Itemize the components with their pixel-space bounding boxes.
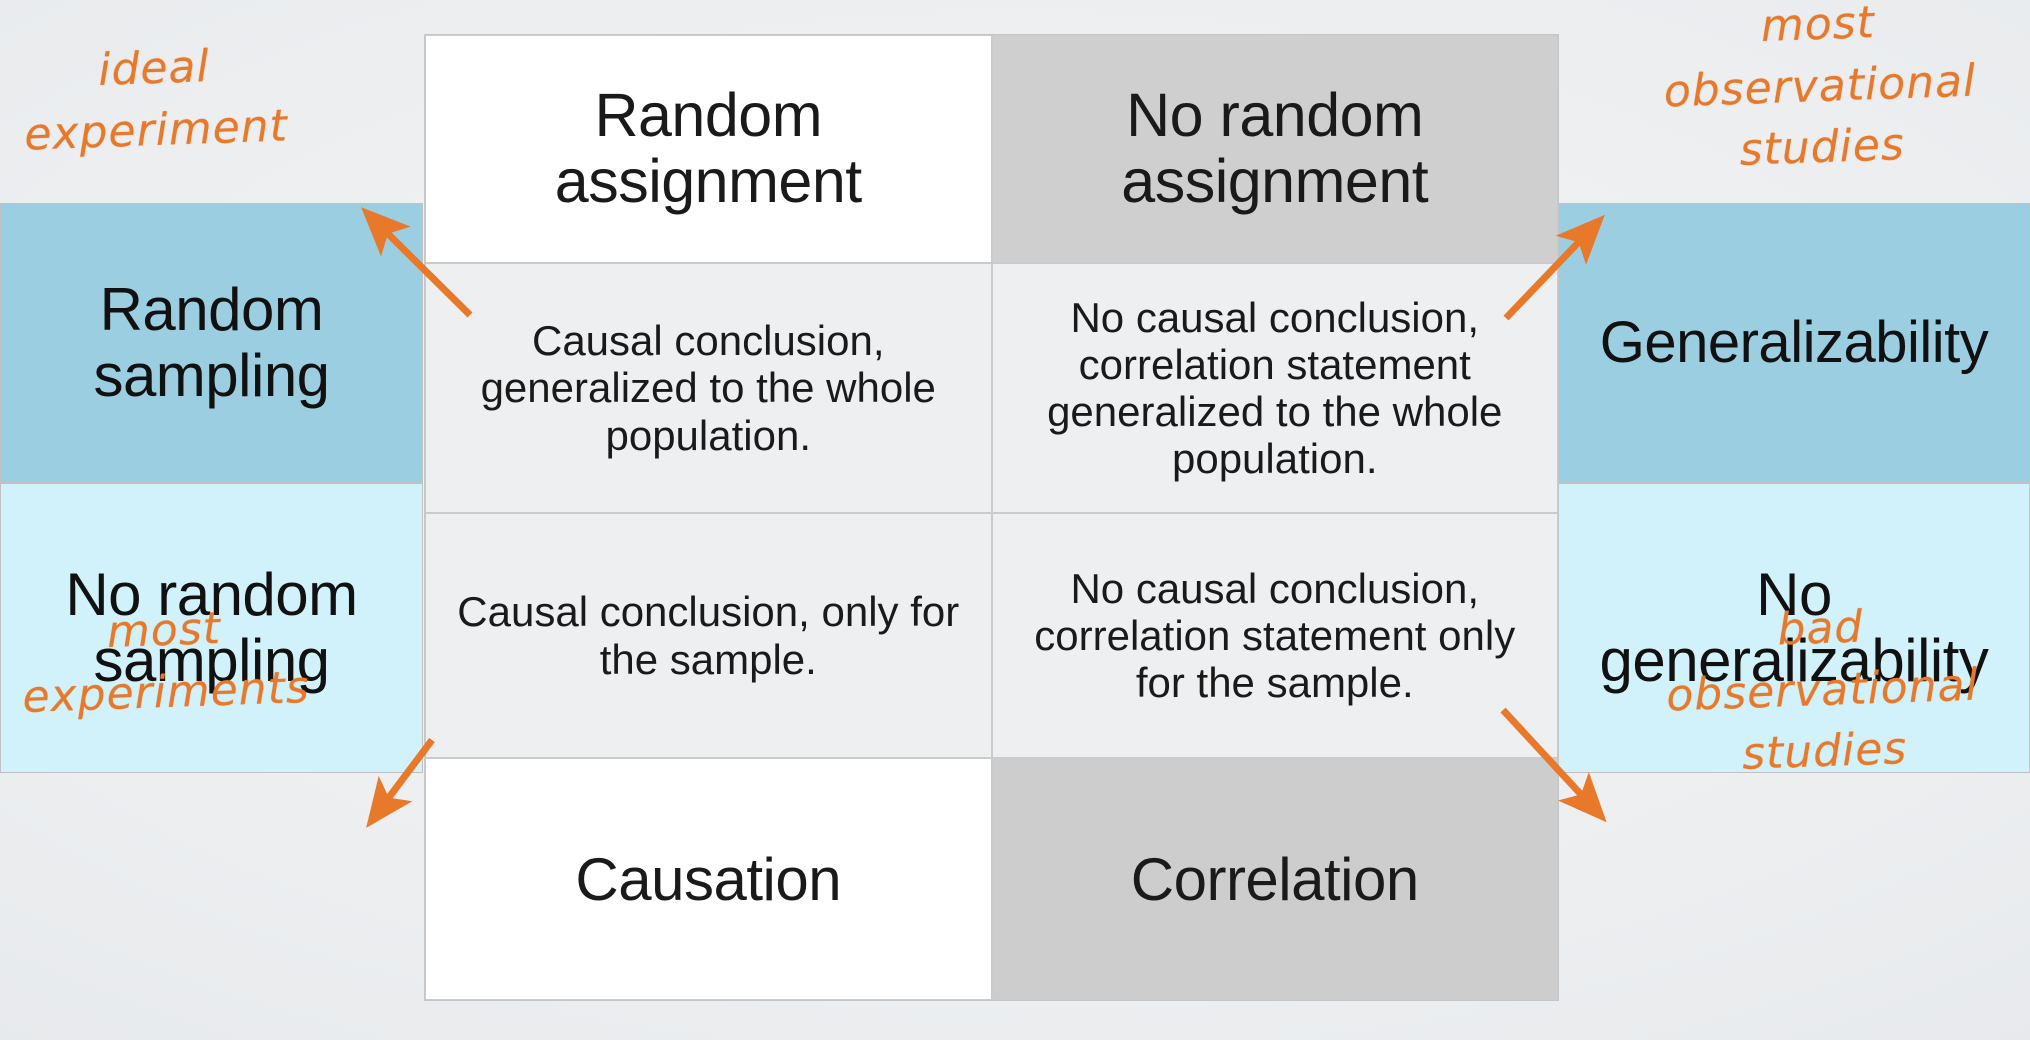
row-label-random-sampling: Random sampling	[0, 203, 423, 483]
matrix-table: Random assignment No random assignment C…	[425, 35, 1558, 1000]
annotation-most-experiments: most experiments	[8, 595, 322, 729]
diagram-slide: Random sampling No random sampling Gener…	[0, 0, 2030, 1040]
annotation-most-observational-studies: most observational studies	[1617, 0, 2023, 186]
cell-no-random-sampling-random-assignment: Causal conclusion, only for the sample.	[425, 513, 992, 758]
column-header-no-random-assignment: No random assignment	[992, 35, 1559, 263]
cell-random-sampling-no-random-assignment: No causal conclusion, correlation statem…	[992, 263, 1559, 513]
column-footer-correlation: Correlation	[992, 758, 1559, 1000]
cell-no-random-sampling-no-random-assignment: No causal conclusion, correlation statem…	[992, 513, 1559, 758]
annotation-ideal-experiment: ideal experiment	[8, 33, 302, 166]
column-header-random-assignment: Random assignment	[425, 35, 992, 263]
annotation-bad-observational-studies: bad observational studies	[1622, 591, 2023, 789]
column-footer-causation: Causation	[425, 758, 992, 1000]
cell-random-sampling-random-assignment: Causal conclusion, generalized to the wh…	[425, 263, 992, 513]
row-label-generalizability: Generalizability	[1558, 203, 2030, 483]
